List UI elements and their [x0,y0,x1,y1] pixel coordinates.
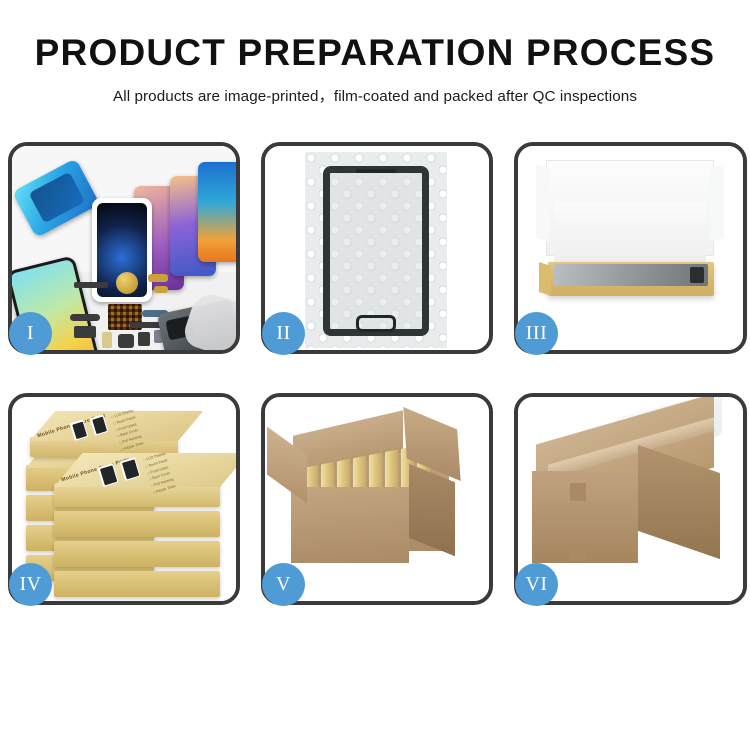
step-panel-2: II [261,142,493,354]
step-badge-3: III [515,312,558,355]
product-preparation-infographic: PRODUCT PREPARATION PROCESS All products… [0,0,750,750]
step-badge-2: II [262,312,305,355]
retail-box-f1 [54,511,220,537]
flex-part-5 [74,326,96,338]
home-button [356,315,396,332]
small-part-2 [118,334,134,348]
steps-grid: I II III [8,142,746,682]
step-badge-1: I [9,312,52,355]
step-panel-3: III [514,142,747,354]
phone-screen-orange [198,162,236,262]
flex-part-3 [154,286,168,293]
step-panel-5: V [261,393,493,605]
flex-part-2 [148,274,168,282]
bubble-wrap-sheet [305,152,447,348]
step-panel-4: Mobile Phone Spare Parts □ LCD Display □… [8,393,240,605]
speaker-part-icon [116,272,138,294]
carton-tab-lower [570,543,586,561]
step-panel-6: VI [514,393,747,605]
step-badge-6: VI [515,563,558,606]
header: PRODUCT PREPARATION PROCESS All products… [0,0,750,106]
page-subtitle: All products are image-printed，film-coat… [0,84,750,106]
carton-tab-upper [570,483,586,501]
step-badge-5: V [262,563,305,606]
step-panel-1: I [8,142,240,354]
small-part-3 [138,332,150,346]
small-part-1 [102,332,112,348]
earpiece-slot [356,169,396,173]
retail-box-f3 [54,571,220,597]
retail-box-front [54,483,220,507]
packed-screen [554,264,708,286]
carton-front-face [291,487,409,563]
foam-padding [554,202,706,268]
flex-part-4 [70,314,100,321]
step-badge-4: IV [9,563,52,606]
flex-part-1 [74,282,108,288]
page-title: PRODUCT PREPARATION PROCESS [0,34,750,73]
retail-box-f2 [54,541,220,567]
retail-box-stack: Mobile Phone Spare Parts □ LCD Display □… [16,407,232,597]
wrapped-phone-screen [323,166,429,336]
